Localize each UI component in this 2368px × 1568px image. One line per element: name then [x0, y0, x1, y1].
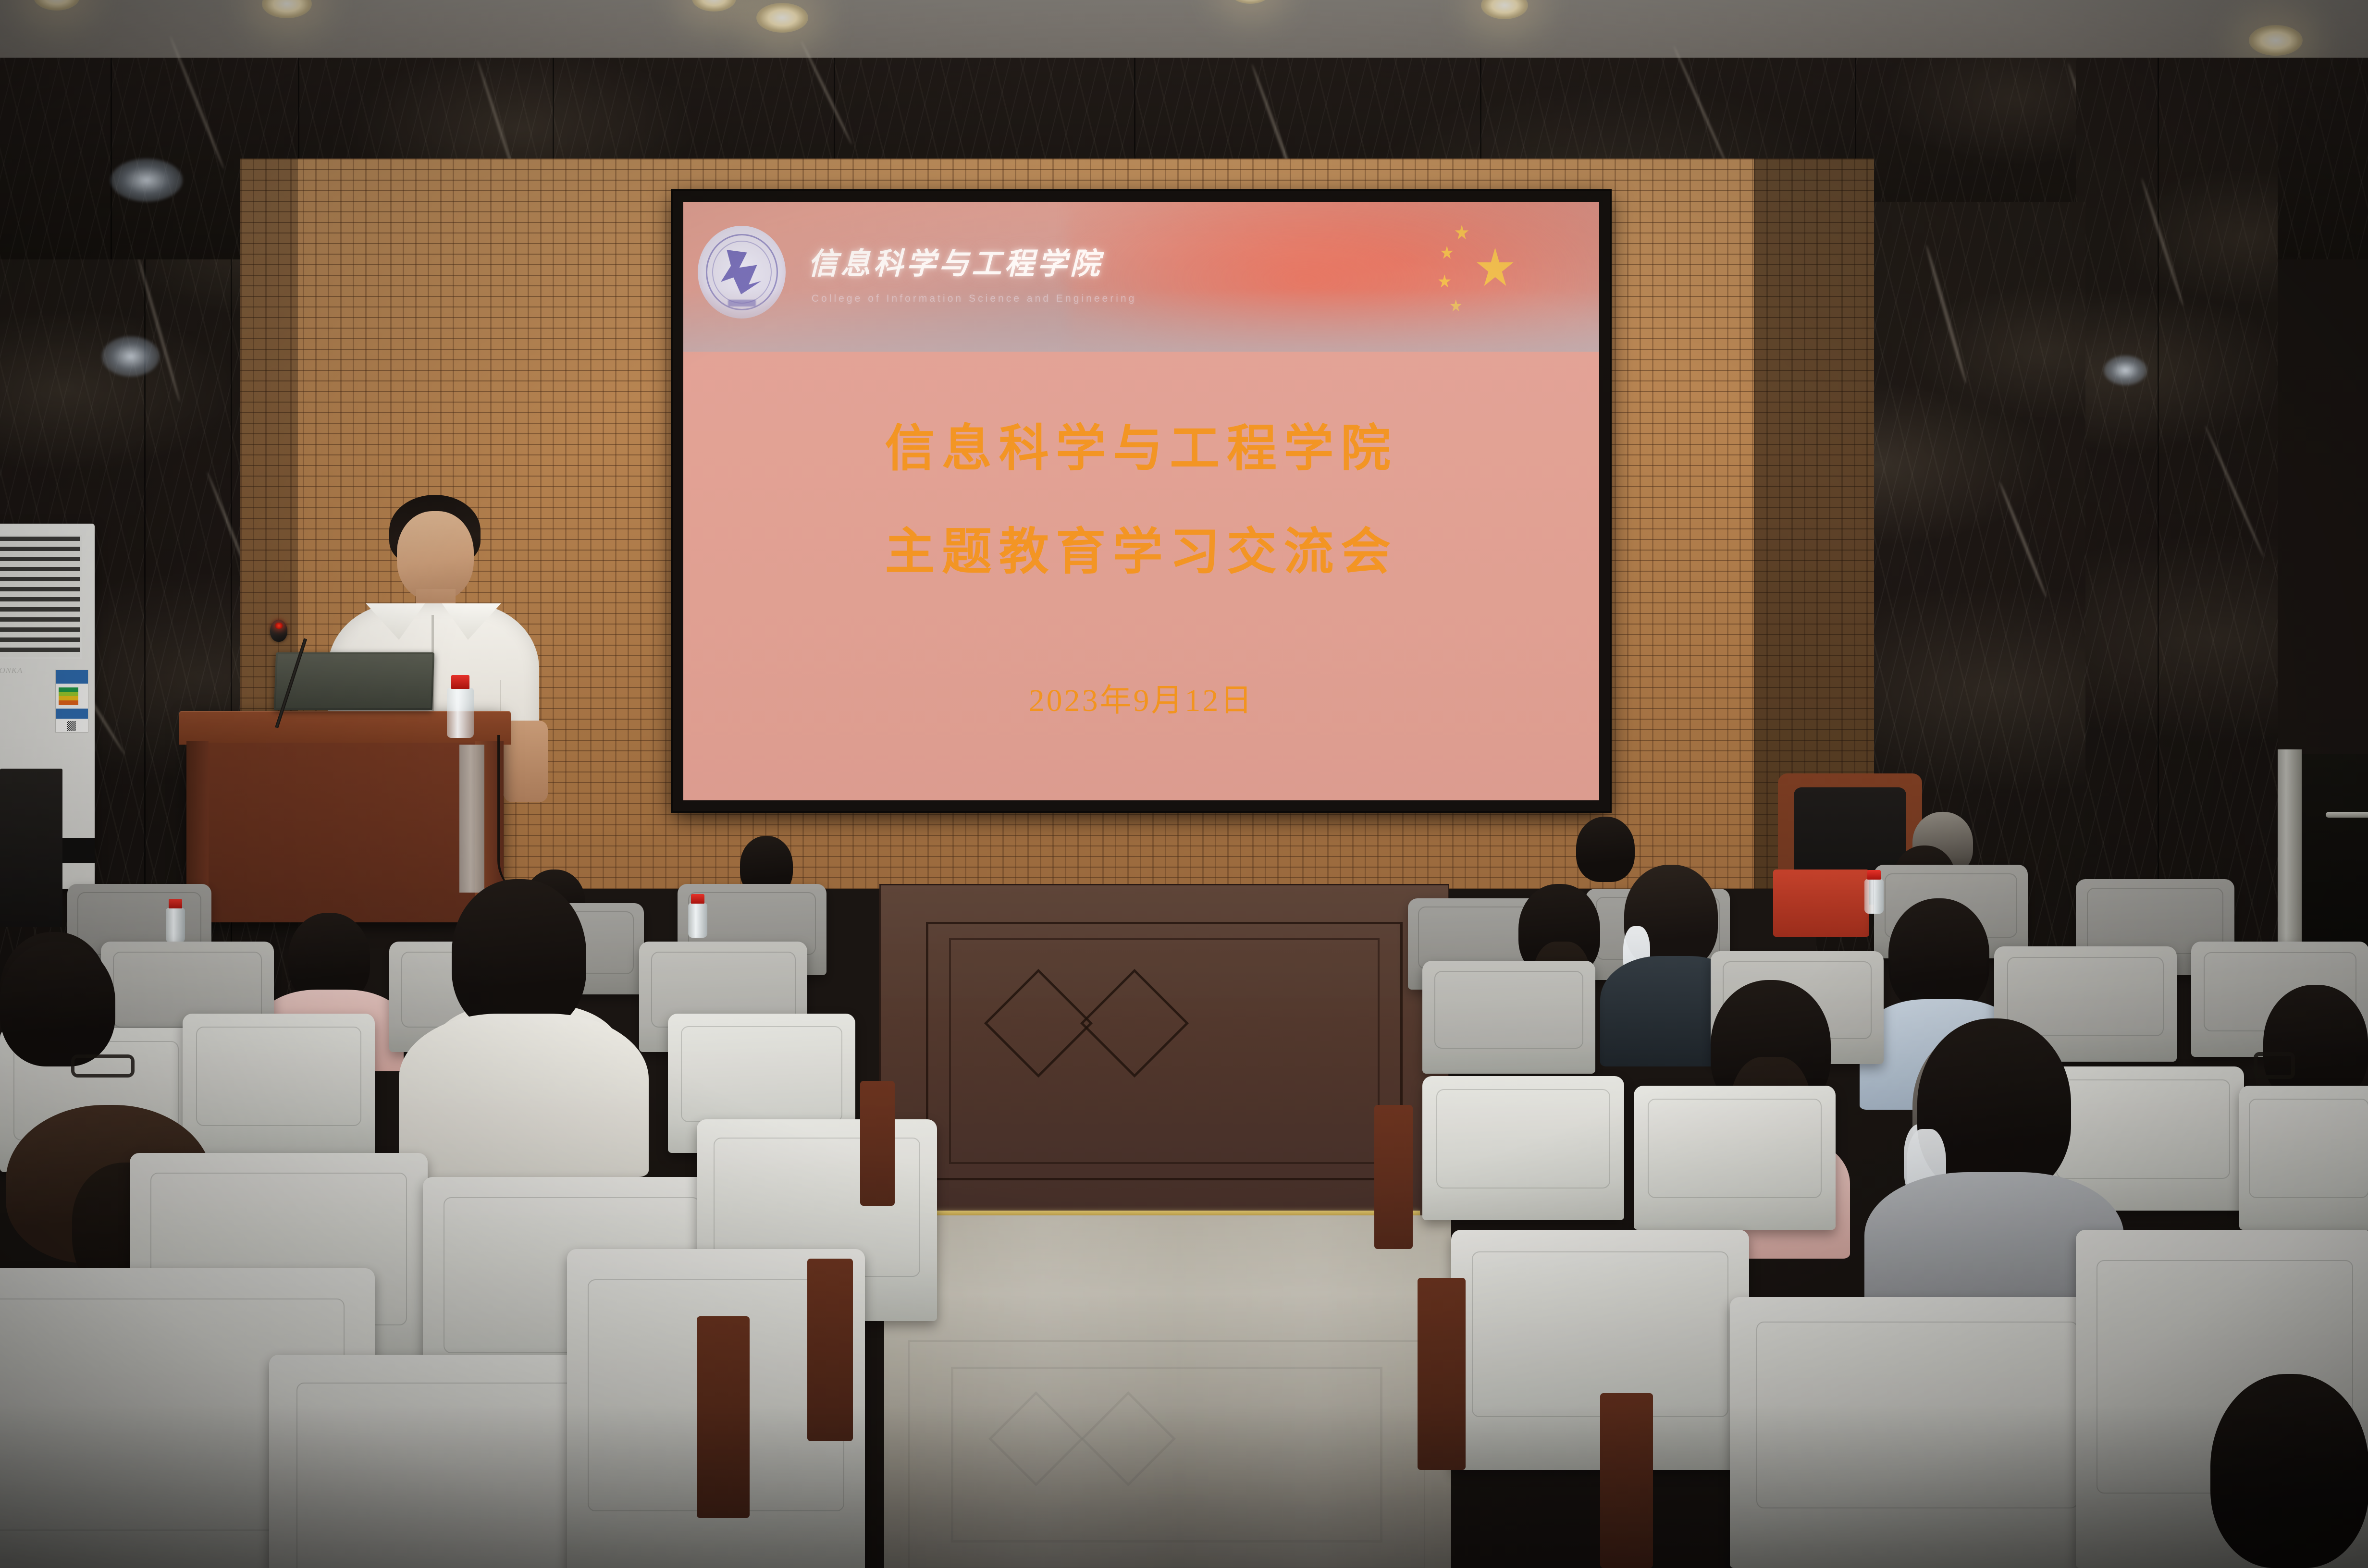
attendee-head [1888, 898, 1989, 1014]
slide-body: 信息科学与工程学院 主题教育学习交流会 2023年9月12日 [683, 352, 1599, 801]
eyeglasses-icon [2254, 1052, 2295, 1079]
decorative-stage-front-panel [879, 884, 1449, 1218]
water-bottle[interactable] [447, 688, 474, 738]
chair-armrest [807, 1259, 853, 1441]
air-conditioner-grille [0, 535, 82, 659]
attendee-head [1576, 817, 1635, 882]
shirt-collar-left [366, 603, 425, 640]
audience-chair[interactable] [2239, 1086, 2368, 1230]
attendee-shoulders [399, 1014, 649, 1177]
chair-armrest [697, 1316, 750, 1518]
water-bottle[interactable] [688, 903, 707, 938]
chair-armrest [1374, 1105, 1413, 1249]
projection-screen-frame: 信息科学与工程学院 College of Information Science… [673, 191, 1610, 811]
lectern-metal-trim [459, 745, 485, 893]
microphone-led-icon [275, 623, 283, 629]
slide-title-line-1: 信息科学与工程学院 [683, 407, 1599, 480]
ceiling-downlight [756, 3, 808, 33]
audience-chair[interactable] [1422, 961, 1595, 1074]
flag-big-star [1476, 247, 1514, 290]
presenter-head [397, 511, 474, 600]
red-stacked-chair [1773, 870, 1869, 937]
slide-header-band: 信息科学与工程学院 College of Information Science… [683, 202, 1599, 352]
flag-small-star [1455, 225, 1469, 241]
attendee-head [0, 942, 115, 1066]
audience-chair[interactable] [1730, 1297, 2105, 1568]
slide-title-line-2: 主题教育学习交流会 [683, 511, 1599, 583]
chair-armrest [860, 1081, 895, 1206]
floor-reflection-panel [908, 1340, 1425, 1568]
presentation-slide: 信息科学与工程学院 College of Information Science… [683, 202, 1599, 800]
floor-speaker-box [0, 769, 62, 927]
door-glass [2302, 754, 2368, 961]
wooden-lectern [186, 711, 504, 922]
door-frame [2278, 749, 2302, 961]
door-handle[interactable] [2326, 812, 2368, 818]
shirt-collar-right [442, 603, 501, 640]
conference-hall-photo: 信息科学与工程学院 College of Information Science… [0, 0, 2368, 1568]
bottle-cap [451, 675, 469, 689]
audience-chair[interactable] [1634, 1086, 1836, 1230]
audience-chair[interactable] [1422, 1076, 1624, 1220]
water-bottle[interactable] [1864, 879, 1884, 914]
water-bottle[interactable] [166, 908, 185, 943]
attendee-head [2210, 1374, 2368, 1568]
chair-armrest [1600, 1393, 1653, 1568]
ceiling-downlight [2249, 25, 2303, 56]
air-conditioner-brand: KONKA [0, 666, 23, 675]
audience-chair[interactable] [183, 1014, 375, 1158]
flag-small-star [1438, 274, 1451, 289]
slide-date: 2023年9月12日 [683, 674, 1599, 721]
header-fade [683, 289, 1599, 352]
chair-armrest [1418, 1278, 1466, 1470]
right-marble-wall [2076, 58, 2278, 951]
slide-header-institution-cn: 信息科学与工程学院 [808, 239, 1103, 282]
projection-screen: 信息科学与工程学院 College of Information Science… [683, 202, 1599, 800]
eyeglasses-icon [71, 1054, 135, 1078]
attendee-head [452, 879, 586, 1033]
lectern-body [202, 743, 488, 922]
flag-small-star [1441, 245, 1454, 260]
energy-efficiency-label [55, 670, 88, 733]
